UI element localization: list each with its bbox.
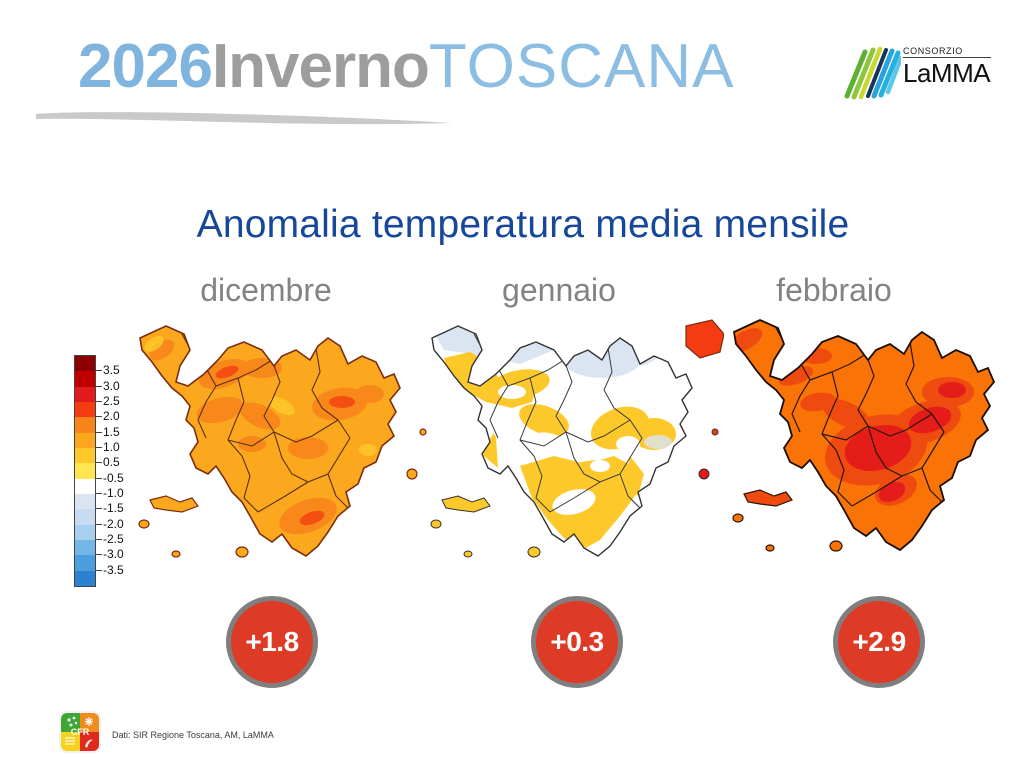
legend-swatch-14	[75, 571, 95, 586]
legend-colorbar	[74, 355, 96, 587]
legend-swatch-0	[75, 356, 95, 371]
legend-swatch-7	[75, 463, 95, 478]
legend-swatch-2	[75, 387, 95, 402]
lamma-wordmark: CONSORZIO LaMMA	[903, 46, 993, 87]
legend-tickmark--3.0	[96, 554, 102, 555]
legend-tickmark-3.5	[96, 370, 102, 371]
value-badge-gennaio: +0.3	[531, 596, 623, 688]
legend-tick--3.5: -3.5	[103, 563, 124, 577]
legend-tick--1.5: -1.5	[103, 501, 124, 515]
legend-tick--1.0: -1.0	[103, 486, 124, 500]
month-label-febbraio: febbraio	[704, 272, 964, 309]
legend-tick-3.0: 3.0	[103, 379, 120, 393]
header-season: Inverno	[212, 32, 429, 101]
legend-tickmark--1.0	[96, 493, 102, 494]
legend-tick-2.0: 2.0	[103, 409, 120, 423]
legend-tick--2.0: -2.0	[103, 517, 124, 531]
legend-swatch-8	[75, 479, 95, 494]
page-title-text: Anomalia temperatura media mensile	[175, 203, 850, 247]
legend-tick--0.5: -0.5	[103, 471, 124, 485]
legend-tick-3.5: 3.5	[103, 363, 120, 377]
brush-stroke-decoration	[34, 110, 454, 126]
legend-tickmark-1.0	[96, 447, 102, 448]
svg-text:CFR: CFR	[71, 727, 90, 737]
lamma-name-label: LaMMA	[903, 59, 993, 87]
legend-swatch-6	[75, 448, 95, 463]
lamma-mark-icon	[843, 44, 901, 100]
lamma-logo: CONSORZIO LaMMA	[843, 42, 991, 104]
map-febbraio	[726, 310, 1024, 590]
legend-tickmark--1.5	[96, 508, 102, 509]
header-region: TOSCANA	[429, 32, 735, 101]
header: 2026InvernoTOSCANA CONSORZIO L	[0, 0, 1024, 150]
lamma-consorzio-label: CONSORZIO	[903, 46, 993, 56]
map-dicembre	[132, 316, 432, 596]
legend-swatch-4	[75, 417, 95, 432]
legend-swatch-9	[75, 494, 95, 509]
legend-tick-0.5: 0.5	[103, 455, 120, 469]
legend-swatch-1	[75, 371, 95, 386]
legend-tickmark-1.5	[96, 432, 102, 433]
legend-tick-1.5: 1.5	[103, 425, 120, 439]
legend-tickmark-2.0	[96, 416, 102, 417]
legend-tick-labels: 3.53.02.52.01.51.00.5-0.5-1.0-1.5-2.0-2.…	[96, 349, 128, 593]
month-label-gennaio: gennaio	[429, 272, 689, 309]
legend-swatch-11	[75, 525, 95, 540]
legend-tickmark-3.0	[96, 386, 102, 387]
legend-swatch-13	[75, 555, 95, 570]
legend-swatch-3	[75, 402, 95, 417]
legend-tick-2.5: 2.5	[103, 394, 120, 408]
legend-tickmark--3.5	[96, 570, 102, 571]
header-year: 2026	[78, 32, 212, 101]
legend-tick--2.5: -2.5	[103, 532, 124, 546]
legend-tick-1.0: 1.0	[103, 440, 120, 454]
legend-tickmark-2.5	[96, 401, 102, 402]
legend-tickmark--2.0	[96, 524, 102, 525]
page-title: Anomalia temperatura media mensile	[0, 203, 1024, 247]
legend-tick--3.0: -3.0	[103, 547, 124, 561]
month-label-dicembre: dicembre	[136, 272, 396, 309]
value-badge-febbraio: +2.9	[833, 596, 925, 688]
islands	[733, 490, 842, 551]
cfr-logo-icon: CFR	[58, 710, 102, 754]
slide-canvas: 2026InvernoTOSCANA CONSORZIO L	[0, 0, 1024, 768]
value-badge-dicembre: +1.8	[226, 596, 318, 688]
island-northeast-patch	[686, 320, 724, 358]
legend-tickmark--2.5	[96, 539, 102, 540]
footer-credit: Dati: SIR Regione Toscana, AM, LaMMA	[112, 730, 274, 740]
legend-tickmark-0.5	[96, 462, 102, 463]
legend-swatch-5	[75, 433, 95, 448]
header-title: 2026InvernoTOSCANA	[78, 36, 734, 98]
legend-swatch-10	[75, 509, 95, 524]
legend-swatch-12	[75, 540, 95, 555]
legend-tickmark--0.5	[96, 478, 102, 479]
map-gennaio	[424, 316, 724, 596]
